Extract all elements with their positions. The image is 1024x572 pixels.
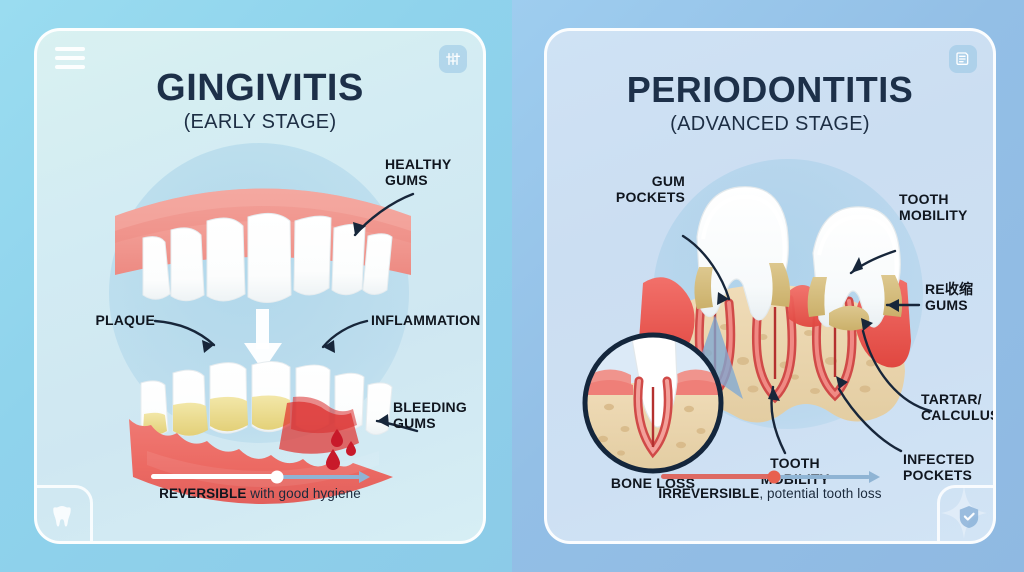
status-rest: with good hygiene — [246, 486, 360, 501]
status-caption: REVERSIBLE with good hygiene — [159, 486, 361, 501]
gingivitis-status: REVERSIBLE with good hygiene — [37, 474, 483, 501]
status-emphasis: IRREVERSIBLE — [658, 486, 759, 501]
label-tooth-mobility-top: TOOTH MOBILITY — [899, 191, 996, 223]
slider-remainder — [277, 475, 369, 479]
tartar-left — [694, 267, 713, 309]
label-tartar-calculus: TARTAR/ CALCULUS — [921, 391, 996, 423]
check-shield-icon-badge[interactable] — [937, 485, 996, 544]
page-subtitle: (EARLY STAGE) — [37, 111, 483, 134]
hamburger-bar — [55, 47, 85, 51]
slider-fill — [151, 474, 277, 479]
gingivitis-card: GINGIVITIS (EARLY STAGE) — [34, 28, 486, 544]
status-caption: IRREVERSIBLE, potential tooth loss — [658, 486, 881, 501]
sliders-settings-icon[interactable] — [439, 45, 467, 73]
molar-right — [808, 207, 902, 331]
upper-arch — [115, 189, 411, 303]
panel-periodontitis: PERIODONTITIS (ADVANCED STAGE) — [512, 0, 1024, 572]
label-healthy-gums: HEALTHY GUMS — [385, 156, 485, 188]
tooth-icon — [51, 504, 73, 530]
hamburger-bar — [55, 65, 85, 69]
label-plaque: PLAQUE — [59, 312, 155, 328]
label-bleeding-gums: BLEEDING GUMS — [393, 399, 486, 431]
check-shield-icon — [958, 504, 980, 530]
periodontitis-card: PERIODONTITIS (ADVANCED STAGE) — [544, 28, 996, 544]
page-title: PERIODONTITIS — [547, 69, 993, 111]
periodontitis-status: IRREVERSIBLE, potential tooth loss — [547, 474, 993, 501]
label-receding-gums: RE收缩 GUMS — [925, 281, 996, 313]
slider-knob[interactable] — [768, 470, 781, 483]
slider-arrowhead — [359, 471, 370, 483]
panel-gingivitis: GINGIVITIS (EARLY STAGE) — [0, 0, 512, 572]
label-gum-pockets: GUM POCKETS — [571, 173, 685, 205]
status-rest: , potential tooth loss — [759, 486, 881, 501]
reversibility-slider[interactable] — [151, 474, 369, 479]
hamburger-bar — [55, 56, 85, 60]
slider-fill — [661, 474, 774, 479]
infographic-root: GINGIVITIS (EARLY STAGE) — [0, 0, 1024, 572]
slider-arrowhead — [869, 471, 880, 483]
slider-knob[interactable] — [271, 470, 284, 483]
slider-remainder — [774, 475, 879, 479]
status-emphasis: REVERSIBLE — [159, 486, 246, 501]
irreversibility-slider[interactable] — [661, 474, 879, 479]
hamburger-menu-icon[interactable] — [55, 47, 85, 69]
tooth-icon-badge[interactable] — [34, 485, 93, 544]
label-inflammation: INFLAMMATION — [371, 312, 486, 328]
document-note-icon[interactable] — [949, 45, 977, 73]
page-subtitle: (ADVANCED STAGE) — [547, 113, 993, 136]
page-title: GINGIVITIS — [37, 67, 483, 110]
